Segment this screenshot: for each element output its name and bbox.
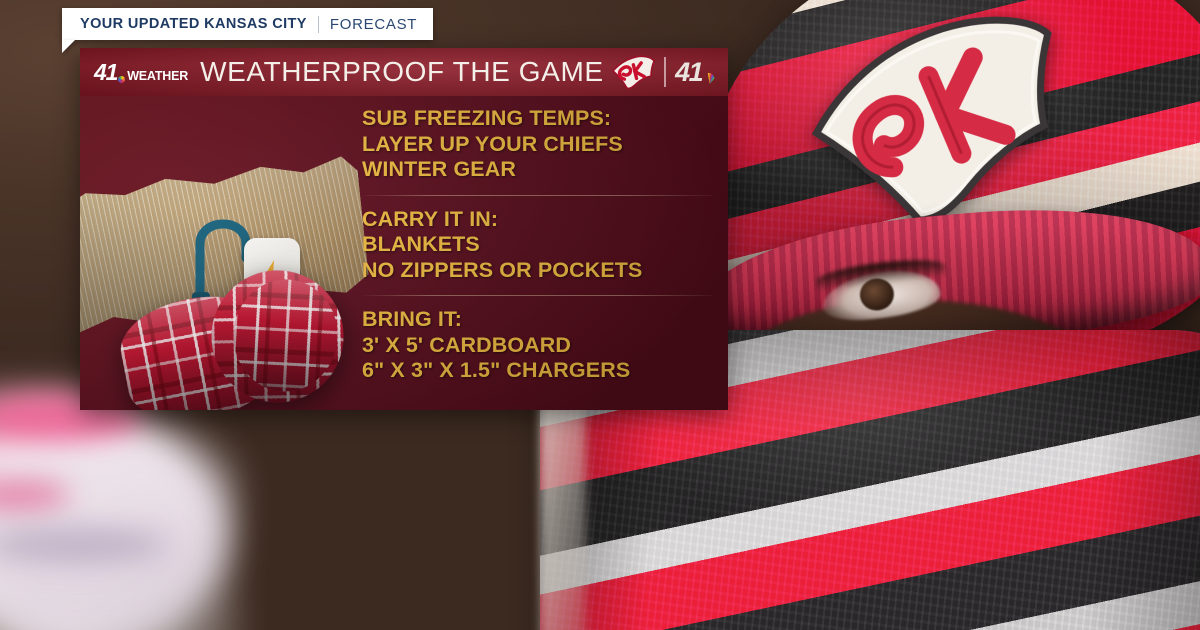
blanket-roll-inner <box>231 277 341 394</box>
banner-tail <box>62 40 75 53</box>
tips-list: SUB FREEZING TEMPS: LAYER UP YOUR CHIEFS… <box>362 106 712 384</box>
channel-number-label: 41 <box>675 59 702 86</box>
card-title: WEATHERPROOF THE GAME <box>200 56 604 88</box>
chiefs-arrowhead-patch-icon <box>794 0 1083 242</box>
tip-block-sub-freezing-temps: SUB FREEZING TEMPS: LAYER UP YOUR CHIEFS… <box>362 106 712 183</box>
breadcrumb: YOUR UPDATED KANSAS CITY FORECAST <box>62 8 433 40</box>
tip-line: BLANKETS <box>362 232 712 258</box>
tip-line: NO ZIPPERS OR POCKETS <box>362 258 712 284</box>
header-logo-divider <box>664 57 666 87</box>
banner-section-label: FORECAST <box>330 16 417 33</box>
tip-line: LAYER UP YOUR CHIEFS <box>362 132 712 158</box>
tip-line: 6" x 3" x 1.5" CHARGERS <box>362 358 712 384</box>
screenshot-stage: YOUR UPDATED KANSAS CITY FORECAST 41 WEA… <box>0 0 1200 630</box>
tip-block-carry-it-in: CARRY IT IN: BLANKETS NO ZIPPERS OR POCK… <box>362 207 712 284</box>
tip-line: 3' x 5' CARDBOARD <box>362 333 712 359</box>
tip-line: WINTER GEAR <box>362 157 712 183</box>
tip-line: CARRY IT IN: <box>362 207 712 233</box>
page-title: YOUR UPDATED KANSAS CITY <box>80 16 307 32</box>
tip-block-bring-it: BRING IT: 3' x 5' CARDBOARD 6" x 3" x 1.… <box>362 307 712 384</box>
weatherproof-the-game-card: 41 WEATHER WEATHERPROOF THE GAME <box>80 48 728 410</box>
tip-line: BRING IT: <box>362 307 712 333</box>
rolled-plaid-blanket-illustration <box>108 254 357 410</box>
card-header: 41 WEATHER WEATHERPROOF THE GAME <box>80 48 728 96</box>
channel-41-logo: 41 <box>675 59 716 86</box>
tip-divider <box>362 195 712 196</box>
blanket-shading <box>231 277 341 394</box>
nbc-peacock-dot-icon <box>118 76 125 83</box>
41-weather-logo: 41 WEATHER <box>94 61 188 84</box>
chiefs-arrowhead-logo-icon <box>611 55 655 89</box>
station-number-label: 41 <box>94 61 117 84</box>
card-body: SUB FREEZING TEMPS: LAYER UP YOUR CHIEFS… <box>80 96 728 410</box>
station-word-label: WEATHER <box>127 70 188 83</box>
tip-divider <box>362 295 712 296</box>
nbc-peacock-icon <box>703 72 716 85</box>
card-header-logos: 41 <box>611 55 716 89</box>
banner-divider <box>318 16 319 33</box>
tip-line: SUB FREEZING TEMPS: <box>362 106 712 132</box>
